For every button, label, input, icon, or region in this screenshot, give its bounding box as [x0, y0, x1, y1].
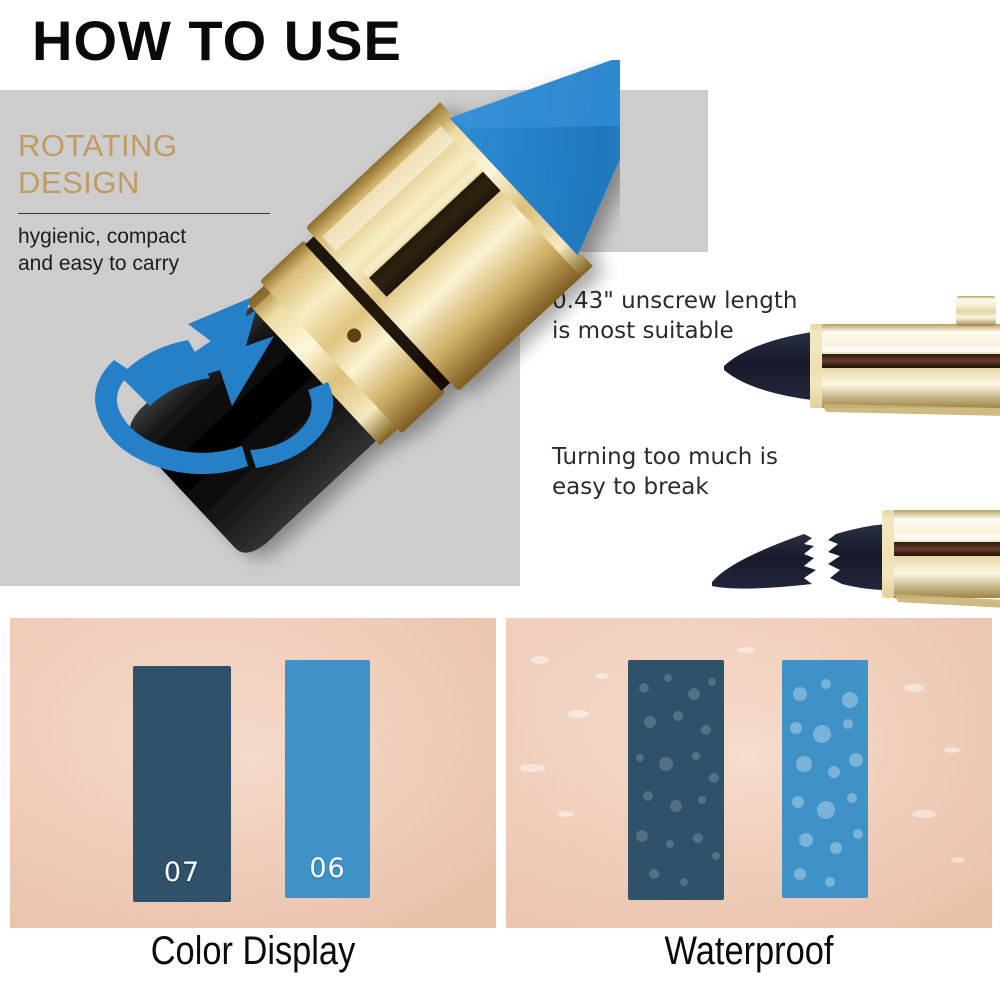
infographic-root: HOW TO USE ROTATING DESIGN hygienic, com…	[0, 0, 1000, 1000]
swatch-06-wet	[782, 660, 868, 898]
skin-texture-wet	[506, 618, 992, 928]
rotating-design-panel-bottom	[0, 252, 520, 586]
water-droplets-dark-swatch	[628, 660, 724, 900]
rotating-design-heading-line1: ROTATING	[18, 128, 288, 165]
skin-texture	[10, 618, 496, 928]
usage-note-1-line2: is most suitable	[552, 316, 797, 346]
color-display-panel: 07 06	[10, 618, 496, 928]
usage-note-2-line1: Turning too much is	[552, 442, 778, 472]
color-display-caption: Color Display	[44, 930, 462, 988]
waterproof-panel	[506, 618, 992, 928]
rotating-design-heading: ROTATING DESIGN	[18, 128, 288, 201]
usage-notes-card: 0.43" unscrew length is most suitable Tu…	[520, 252, 1000, 600]
water-droplets-light-swatch	[782, 660, 868, 898]
usage-note-1-line1: 0.43" unscrew length	[552, 286, 797, 316]
waterproof-caption: Waterproof	[540, 930, 958, 988]
swatch-06-code: 06	[285, 853, 370, 884]
swatch-07: 07	[133, 666, 231, 902]
swatch-07-code: 07	[133, 857, 231, 888]
swatch-06: 06	[285, 660, 370, 898]
usage-note-2: Turning too much is easy to break	[552, 442, 778, 503]
rotating-design-subtext-line1: hygienic, compact	[18, 224, 288, 250]
rotating-design-subtext: hygienic, compact and easy to carry	[18, 224, 288, 277]
usage-note-2-line2: easy to break	[552, 472, 778, 502]
rotating-design-heading-line2: DESIGN	[18, 165, 288, 202]
rotating-design-subtext-line2: and easy to carry	[18, 251, 288, 277]
divider-rule	[18, 213, 270, 214]
usage-note-1: 0.43" unscrew length is most suitable	[552, 286, 797, 347]
rotating-design-text-block: ROTATING DESIGN hygienic, compact and ea…	[18, 128, 288, 277]
swatch-07-wet	[628, 660, 724, 900]
page-title: HOW TO USE	[32, 12, 402, 71]
